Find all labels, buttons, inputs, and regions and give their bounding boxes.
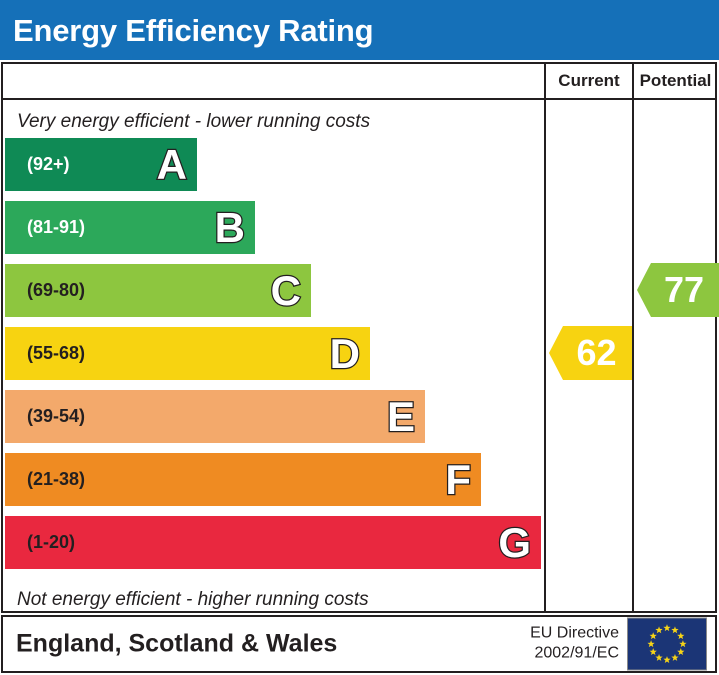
rating-marker-potential: 77 [637, 263, 719, 317]
footer-directive: EU Directive 2002/91/EC [530, 624, 619, 665]
chart-title-bar: Energy Efficiency Rating [0, 0, 719, 60]
band-range-f: (21-38) [5, 469, 85, 490]
band-range-g: (1-20) [5, 532, 75, 553]
band-list: (92+)A(81-91)B(69-80)C(55-68)D(39-54)E(2… [3, 138, 544, 584]
column-header-current: Current [546, 64, 632, 98]
band-bar-a: (92+)A [5, 138, 197, 191]
eu-star-icon [650, 632, 657, 639]
eu-star-icon [677, 648, 684, 655]
band-range-d: (55-68) [5, 343, 85, 364]
band-letter-b: B [215, 207, 245, 249]
rating-value-current: 62 [564, 335, 616, 371]
band-bar-b: (81-91)B [5, 201, 255, 254]
band-letter-a: A [157, 144, 187, 186]
band-letter-g: G [498, 522, 531, 564]
eu-star-icon [663, 624, 670, 631]
column-divider-current [544, 64, 546, 611]
eu-star-icon [679, 640, 686, 647]
chart-footer: England, Scotland & Wales EU Directive 2… [1, 615, 717, 673]
band-bar-g: (1-20)G [5, 516, 541, 569]
band-bar-e: (39-54)E [5, 390, 425, 443]
eu-star-icon [677, 632, 684, 639]
column-divider-potential [632, 64, 634, 611]
eu-star-icon [655, 626, 662, 633]
caption-efficient: Very energy efficient - lower running co… [17, 111, 370, 133]
band-bar-f: (21-38)F [5, 453, 481, 506]
eu-star-icon [655, 654, 662, 661]
band-bar-c: (69-80)C [5, 264, 311, 317]
band-letter-e: E [387, 396, 415, 438]
caption-inefficient: Not energy efficient - higher running co… [17, 589, 369, 611]
rating-marker-current: 62 [549, 326, 632, 380]
directive-line-2: 2002/91/EC [530, 644, 619, 664]
eu-stars-svg [628, 619, 706, 670]
rating-table: Current Potential Very energy efficient … [1, 62, 717, 613]
eu-flag-icon [627, 618, 707, 671]
eu-star-icon [663, 656, 670, 663]
band-bar-d: (55-68)D [5, 327, 370, 380]
epc-energy-efficiency-chart: Energy Efficiency Rating Current Potenti… [0, 0, 719, 675]
band-letter-f: F [445, 459, 471, 501]
directive-line-1: EU Directive [530, 624, 619, 644]
band-range-c: (69-80) [5, 280, 85, 301]
band-range-a: (92+) [5, 154, 70, 175]
eu-star-icon [650, 648, 657, 655]
eu-star-icon [671, 626, 678, 633]
rating-value-potential: 77 [652, 272, 704, 308]
eu-star-icon [647, 640, 654, 647]
header-divider [3, 98, 715, 100]
footer-region-label: England, Scotland & Wales [16, 630, 337, 659]
column-header-potential: Potential [634, 64, 717, 98]
band-range-b: (81-91) [5, 217, 85, 238]
page-title: Energy Efficiency Rating [0, 15, 373, 46]
eu-star-icon [671, 654, 678, 661]
band-letter-d: D [330, 333, 360, 375]
band-letter-c: C [271, 270, 301, 312]
band-range-e: (39-54) [5, 406, 85, 427]
